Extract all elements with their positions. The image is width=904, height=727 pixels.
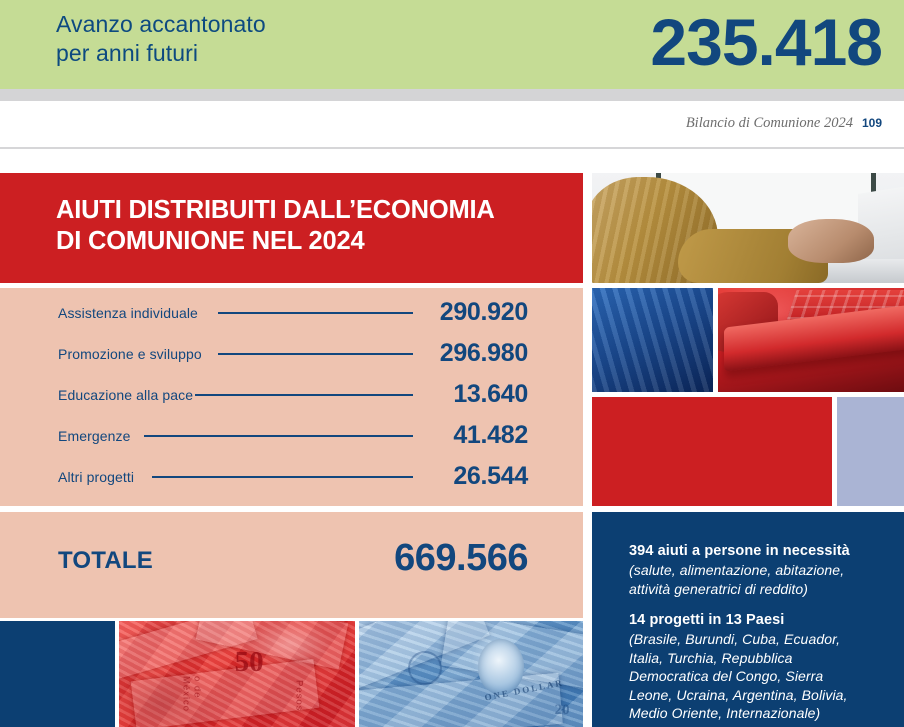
info-block-projects: 14 progetti in 13 Paesi (Brasile, Burund…	[629, 611, 891, 723]
aid-value: 41.482	[453, 421, 528, 450]
sweater-photo	[592, 288, 713, 392]
periwinkle-color-block	[837, 397, 904, 506]
table-row: Emergenze 41.482	[0, 415, 583, 456]
total-panel: TOTALE 669.566	[0, 512, 583, 618]
aid-label: Assistenza individuale	[58, 305, 198, 321]
summary-banner-amount: 235.418	[650, 0, 882, 88]
total-value: 669.566	[394, 537, 528, 580]
section-header-title: AIUTI DISTRIBUITI DALL’ECONOMIA DI COMUN…	[56, 195, 495, 257]
info-aids-heading: 394 aiuti a persone in necessità	[629, 542, 891, 561]
red-color-block	[592, 397, 832, 506]
folio-text: Bilancio di Comunione 2024	[686, 115, 853, 132]
aid-list-panel: Assistenza individuale 290.920 Promozion…	[0, 288, 583, 506]
table-row: Promozione e sviluppo 296.980	[0, 333, 583, 374]
info-projects-body: (Brasile, Burundi, Cuba, Ecuador, Italia…	[629, 630, 891, 723]
summary-banner: Avanzo accantonato per anni futuri 235.4…	[0, 0, 904, 89]
table-row: Assistenza individuale 290.920	[0, 292, 583, 333]
info-aids-body: (salute, alimentazione, abitazione, atti…	[629, 561, 891, 598]
leader-line	[218, 312, 413, 314]
banknote-text-right: Pesos	[294, 680, 305, 711]
navy-block	[0, 621, 115, 727]
banknote-corner-number: 20	[555, 702, 570, 719]
bottom-photo-strip: 50 o de México Pesos ONE DOLLAR 20	[0, 621, 583, 727]
aid-value: 13.640	[453, 380, 528, 409]
money-blue-photo: ONE DOLLAR 20	[359, 621, 583, 727]
section-header: AIUTI DISTRIBUITI DALL’ECONOMIA DI COMUN…	[0, 173, 583, 283]
info-projects-heading: 14 progetti in 13 Paesi	[629, 611, 891, 630]
main-content: AIUTI DISTRIBUITI DALL’ECONOMIA DI COMUN…	[0, 173, 904, 727]
aid-label: Promozione e sviluppo	[58, 346, 202, 362]
banknote-denomination: 50	[235, 646, 264, 679]
folio-page-number: 109	[862, 116, 882, 130]
leader-line	[218, 353, 413, 355]
table-row: Educazione alla pace 13.640	[0, 374, 583, 415]
aid-value: 26.544	[453, 462, 528, 491]
info-panel: 394 aiuti a persone in necessità (salute…	[592, 512, 904, 727]
leader-line	[195, 394, 413, 396]
aid-value: 290.920	[440, 298, 528, 327]
summary-banner-label: Avanzo accantonato per anni futuri	[56, 10, 266, 68]
folio: Bilancio di Comunione 2024 109	[686, 115, 882, 132]
aid-label: Educazione alla pace	[58, 387, 193, 403]
info-block-aids: 394 aiuti a persone in necessità (salute…	[629, 542, 891, 598]
leader-line	[152, 476, 413, 478]
aid-label: Altri progetti	[58, 469, 134, 485]
folio-hairline	[0, 147, 904, 149]
banner-divider-band	[0, 89, 904, 101]
aid-label: Emergenze	[58, 428, 131, 444]
aid-value: 296.980	[440, 339, 528, 368]
banknote-text-left: o de México	[180, 676, 202, 727]
money-red-photo: 50 o de México Pesos	[119, 621, 355, 727]
table-row: Altri progetti 26.544	[0, 456, 583, 497]
keyboard-photo	[718, 288, 904, 392]
leader-line	[144, 435, 413, 437]
laptop-photo	[592, 173, 904, 283]
total-label: TOTALE	[58, 547, 153, 575]
